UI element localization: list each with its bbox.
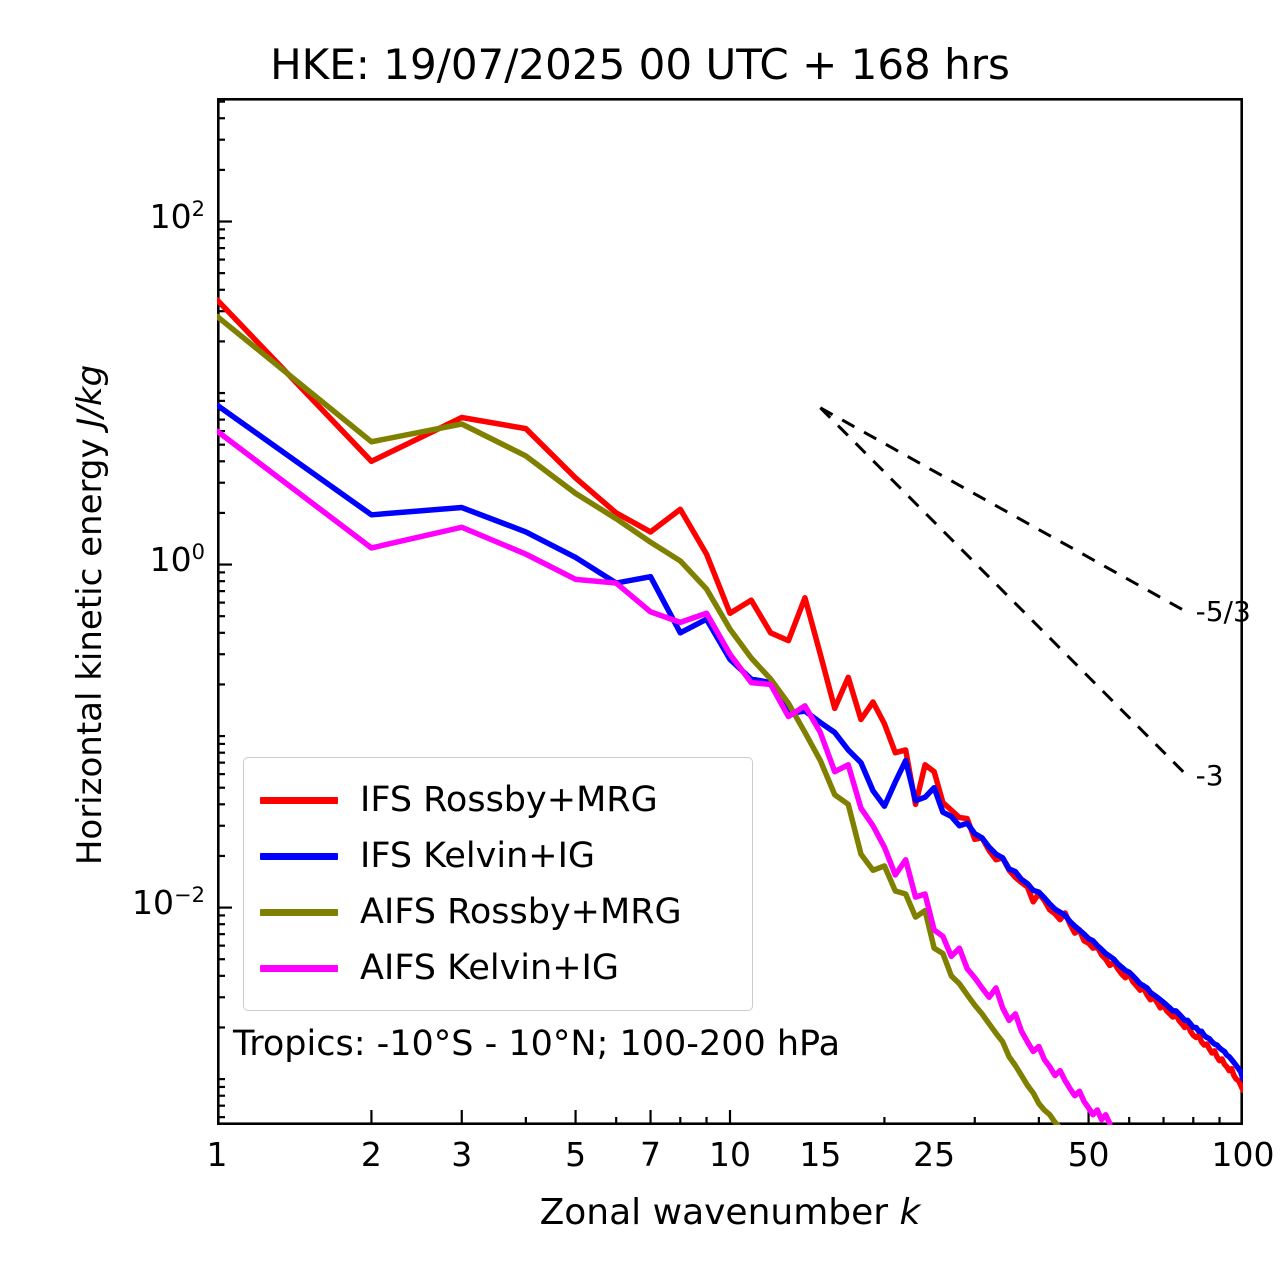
reference-slope-label: -3 bbox=[1196, 759, 1224, 792]
x-axis-label-text: Zonal wavenumber bbox=[540, 1192, 888, 1233]
legend-color-swatch bbox=[260, 909, 338, 916]
x-axis-tick-label: 3 bbox=[412, 1135, 512, 1174]
chart-canvas: HKE: 19/07/2025 00 UTC + 168 hrs Horizon… bbox=[0, 0, 1280, 1288]
legend-item-label: AIFS Rossby+MRG bbox=[360, 895, 682, 930]
reference-slope-line bbox=[820, 408, 1187, 776]
legend-item-label: IFS Kelvin+IG bbox=[360, 839, 595, 874]
y-axis-tick-label: 10−2 bbox=[60, 883, 205, 922]
x-axis-tick-label: 25 bbox=[884, 1135, 984, 1174]
reference-slope-line bbox=[820, 408, 1187, 613]
legend: IFS Rossby+MRGIFS Kelvin+IGAIFS Rossby+M… bbox=[243, 757, 753, 1011]
x-axis-label-variable: k bbox=[900, 1192, 921, 1233]
x-axis-tick-label: 15 bbox=[770, 1135, 870, 1174]
x-axis-tick-label: 2 bbox=[321, 1135, 421, 1174]
x-axis-tick-label: 10 bbox=[680, 1135, 780, 1174]
legend-item[interactable]: AIFS Rossby+MRG bbox=[260, 884, 736, 940]
reference-slope-label: -5/3 bbox=[1196, 595, 1251, 628]
legend-item[interactable]: IFS Kelvin+IG bbox=[260, 828, 736, 884]
legend-item-label: AIFS Kelvin+IG bbox=[360, 951, 619, 986]
x-axis-tick-label: 100 bbox=[1193, 1135, 1280, 1174]
legend-item-label: IFS Rossby+MRG bbox=[360, 783, 658, 818]
legend-item[interactable]: IFS Rossby+MRG bbox=[260, 772, 736, 828]
y-axis-label-unit: J/kg bbox=[70, 365, 110, 428]
legend-color-swatch bbox=[260, 965, 338, 972]
x-axis-tick-label: 50 bbox=[1039, 1135, 1139, 1174]
x-axis-label: Zonal wavenumber k bbox=[217, 1192, 1243, 1233]
legend-color-swatch bbox=[260, 853, 338, 860]
y-axis-tick-label: 102 bbox=[60, 197, 205, 236]
y-axis-label-text: Horizontal kinetic energy bbox=[70, 438, 110, 865]
legend-color-swatch bbox=[260, 797, 338, 804]
y-axis-label: Horizontal kinetic energy J/kg bbox=[70, 235, 110, 995]
region-annotation: Tropics: -10°S - 10°N; 100-200 hPa bbox=[233, 1024, 840, 1064]
chart-title: HKE: 19/07/2025 00 UTC + 168 hrs bbox=[0, 40, 1280, 89]
x-axis-tick-label: 1 bbox=[167, 1135, 267, 1174]
legend-item[interactable]: AIFS Kelvin+IG bbox=[260, 940, 736, 996]
y-axis-tick-label: 100 bbox=[60, 540, 205, 579]
